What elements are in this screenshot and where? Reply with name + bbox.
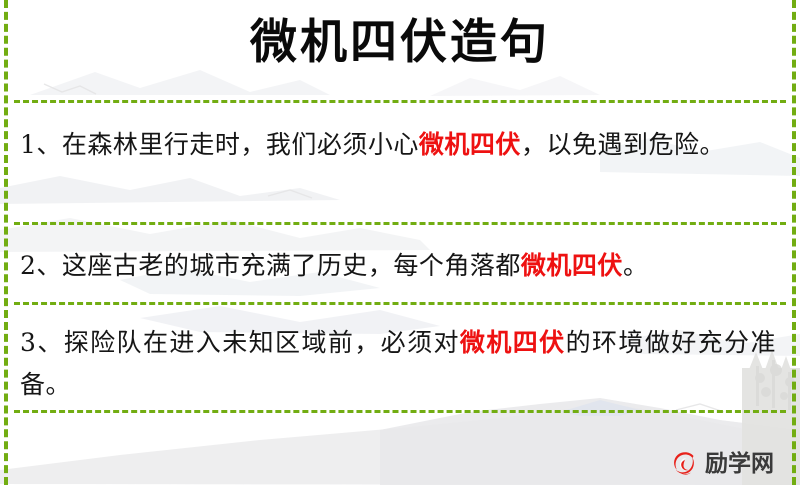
page-title: 微机四伏造句 [0, 14, 800, 73]
divider-after-sentence-2 [14, 302, 786, 305]
site-logo-text: 励学网 [705, 453, 774, 476]
border-left-dashed [4, 0, 8, 485]
keyword-highlight-1: 微机四伏 [419, 130, 521, 159]
divider-below-title [14, 100, 786, 103]
sentence-text-after-2: 。 [623, 251, 649, 280]
red-swirl-logo-icon [670, 449, 700, 479]
sentence-item-2: 2、这座古老的城市充满了历史，每个角落都微机四伏。 [20, 245, 776, 287]
sentence-text-before-3: 探险队在进入未知区域前，必须对 [64, 328, 460, 357]
sentence-item-1: 1、在森林里行走时，我们必须小心微机四伏，以免遇到危险。 [20, 124, 776, 166]
sentence-text-before-2: 这座古老的城市充满了历史，每个角落都 [62, 251, 521, 280]
sentence-item-3: 3、探险队在进入未知区域前，必须对微机四伏的环境做好充分准备。 [20, 322, 776, 406]
keyword-highlight-2: 微机四伏 [521, 251, 623, 280]
sentence-text-after-1: ，以免遇到危险。 [521, 130, 725, 159]
sentence-number-2: 2、 [20, 251, 62, 280]
sentence-text-before-1: 在森林里行走时，我们必须小心 [62, 130, 419, 159]
divider-after-sentence-1 [14, 222, 786, 225]
border-right-dashed [792, 0, 796, 485]
keyword-highlight-3: 微机四伏 [460, 328, 566, 357]
worksheet-page: 微机四伏造句 1、在森林里行走时，我们必须小心微机四伏，以免遇到危险。 2、这座… [0, 0, 800, 485]
sentence-number-1: 1、 [20, 130, 62, 159]
divider-after-sentence-3 [14, 410, 786, 413]
site-logo[interactable]: 励学网 [670, 447, 774, 481]
sentence-number-3: 3、 [20, 328, 64, 357]
